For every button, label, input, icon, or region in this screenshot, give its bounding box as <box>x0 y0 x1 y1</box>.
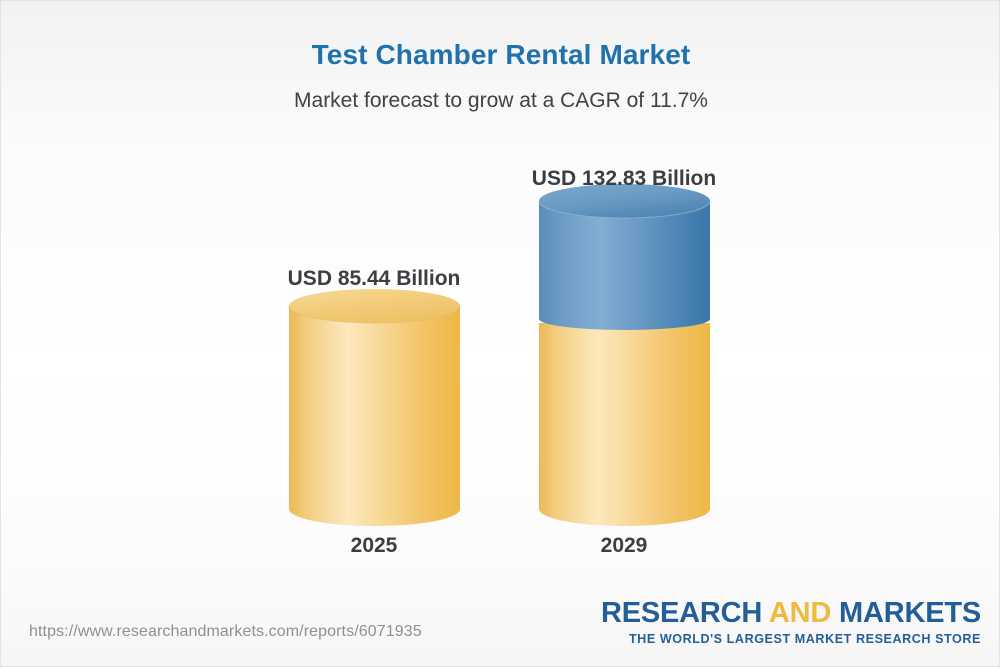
logo-tagline: THE WORLD'S LARGEST MARKET RESEARCH STOR… <box>601 633 981 646</box>
bar-2029-base-segment <box>539 323 710 526</box>
research-and-markets-logo[interactable]: RESEARCH AND MARKETS THE WORLD'S LARGEST… <box>601 599 981 646</box>
logo-word-markets: MARKETS <box>831 597 981 629</box>
chart-image: Test Chamber Rental Market Market foreca… <box>0 0 1000 667</box>
bar-2025 <box>289 289 469 528</box>
bar-2025-value-label: USD 85.44 Billion <box>179 267 569 291</box>
bar-2029-value-label: USD 132.83 Billion <box>429 167 819 191</box>
bar-2029 <box>539 184 719 528</box>
logo-word-and: AND <box>769 597 831 629</box>
bar-2029-growth-segment <box>539 201 710 330</box>
category-label-2029: 2029 <box>429 534 819 558</box>
report-url[interactable]: https://www.researchandmarkets.com/repor… <box>29 623 422 641</box>
logo-wordmark: RESEARCH AND MARKETS <box>601 599 981 628</box>
chart-plot <box>1 1 1000 668</box>
logo-word-research: RESEARCH <box>601 597 769 629</box>
bar-2025-body <box>289 306 460 526</box>
